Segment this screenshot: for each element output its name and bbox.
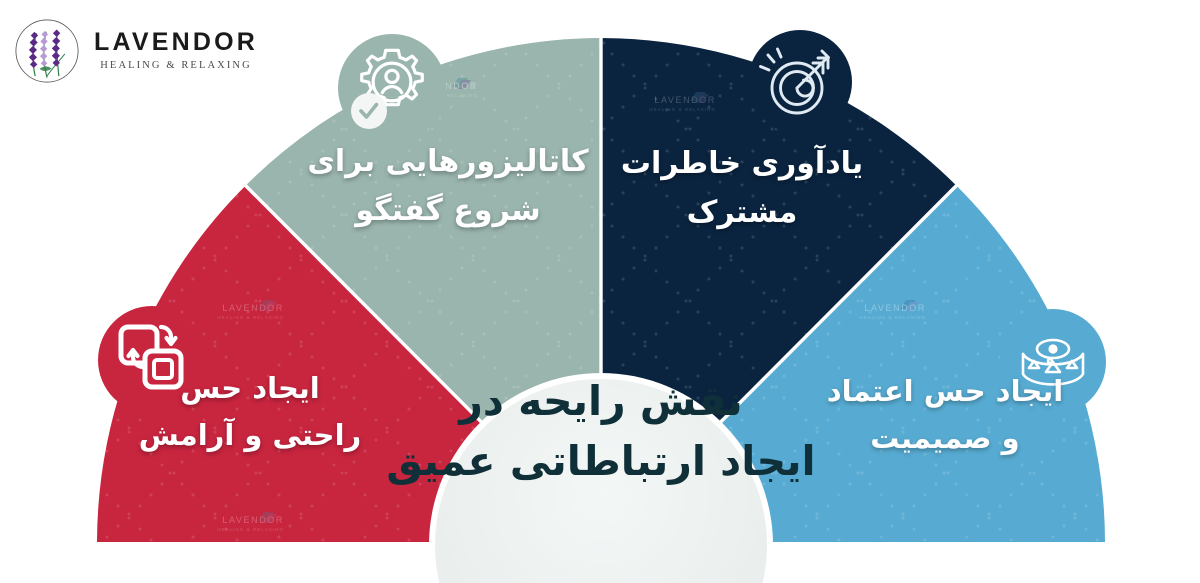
svg-text:HEALING & RELAXING: HEALING & RELAXING bbox=[217, 315, 284, 320]
check-badge-icon bbox=[351, 93, 387, 129]
svg-text:HEALING & RELAXING: HEALING & RELAXING bbox=[649, 107, 716, 112]
svg-text:HEALING & RELAXING: HEALING & RELAXING bbox=[217, 527, 284, 532]
semicircle-wheel-diagram: LAVENDOR HEALING & RELAXING LAVENDOR HEA… bbox=[0, 0, 1200, 583]
svg-text:LAVENDOR: LAVENDOR bbox=[222, 303, 284, 313]
infographic-canvas: LAVENDOR HEALING & RELAXING bbox=[0, 0, 1200, 583]
svg-text:LAVENDOR: LAVENDOR bbox=[654, 95, 716, 105]
svg-text:LAVENDOR: LAVENDOR bbox=[864, 303, 926, 313]
svg-text:HEALING & RELAXING: HEALING & RELAXING bbox=[859, 315, 926, 320]
svg-text:LAVENDOR: LAVENDOR bbox=[222, 515, 284, 525]
